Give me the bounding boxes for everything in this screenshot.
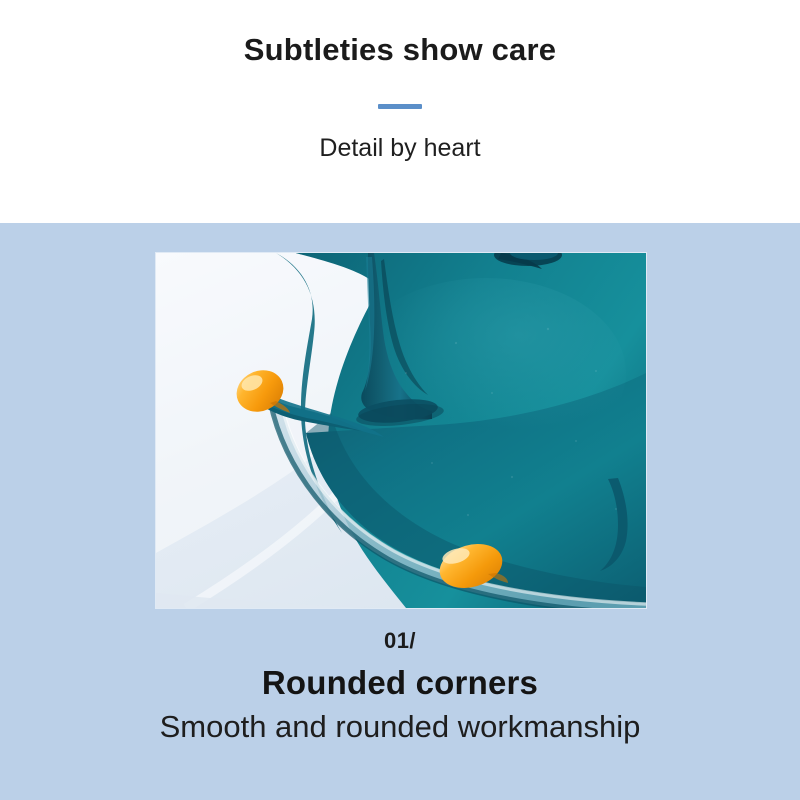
caption-block: 01/ Rounded corners Smooth and rounded w… xyxy=(0,627,800,745)
title-divider xyxy=(378,104,422,109)
feature-section: 01/ Rounded corners Smooth and rounded w… xyxy=(0,223,800,800)
promo-page: Subtleties show care Detail by heart xyxy=(0,0,800,800)
caption-number: 01/ xyxy=(0,627,800,655)
page-subtitle: Detail by heart xyxy=(0,133,800,164)
caption-heading: Rounded corners xyxy=(0,663,800,703)
product-photo xyxy=(156,253,646,608)
caption-subtext: Smooth and rounded workmanship xyxy=(0,708,800,745)
page-title: Subtleties show care xyxy=(0,31,800,68)
header-section: Subtleties show care Detail by heart xyxy=(0,0,800,223)
product-photo-illustration xyxy=(156,253,646,608)
